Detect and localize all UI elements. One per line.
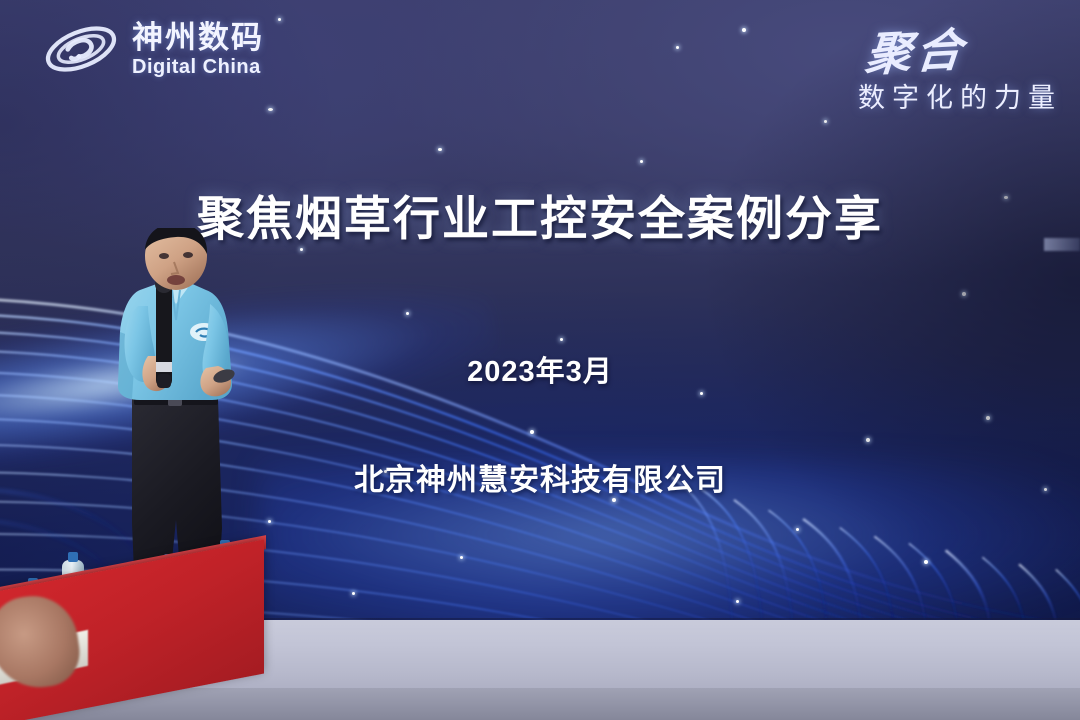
logo-name-cn: 神州数码 (132, 22, 264, 53)
eye-right (183, 252, 193, 258)
brand-calligraphy: 聚合 (863, 13, 969, 84)
mouth (167, 275, 185, 285)
digital-china-logo: 神州数码 Digital China (42, 18, 264, 80)
digital-china-swirl-icon (42, 18, 120, 80)
eye-left (159, 253, 169, 259)
event-brand-lockup: 聚合 数字化的力量 (858, 16, 1062, 115)
handheld-microphone (155, 275, 173, 388)
conference-stage-photo: 神州数码 Digital China 聚合 数字化的力量 聚焦烟草行业工控安全案… (0, 0, 1080, 720)
logo-name-en: Digital China (132, 57, 264, 77)
